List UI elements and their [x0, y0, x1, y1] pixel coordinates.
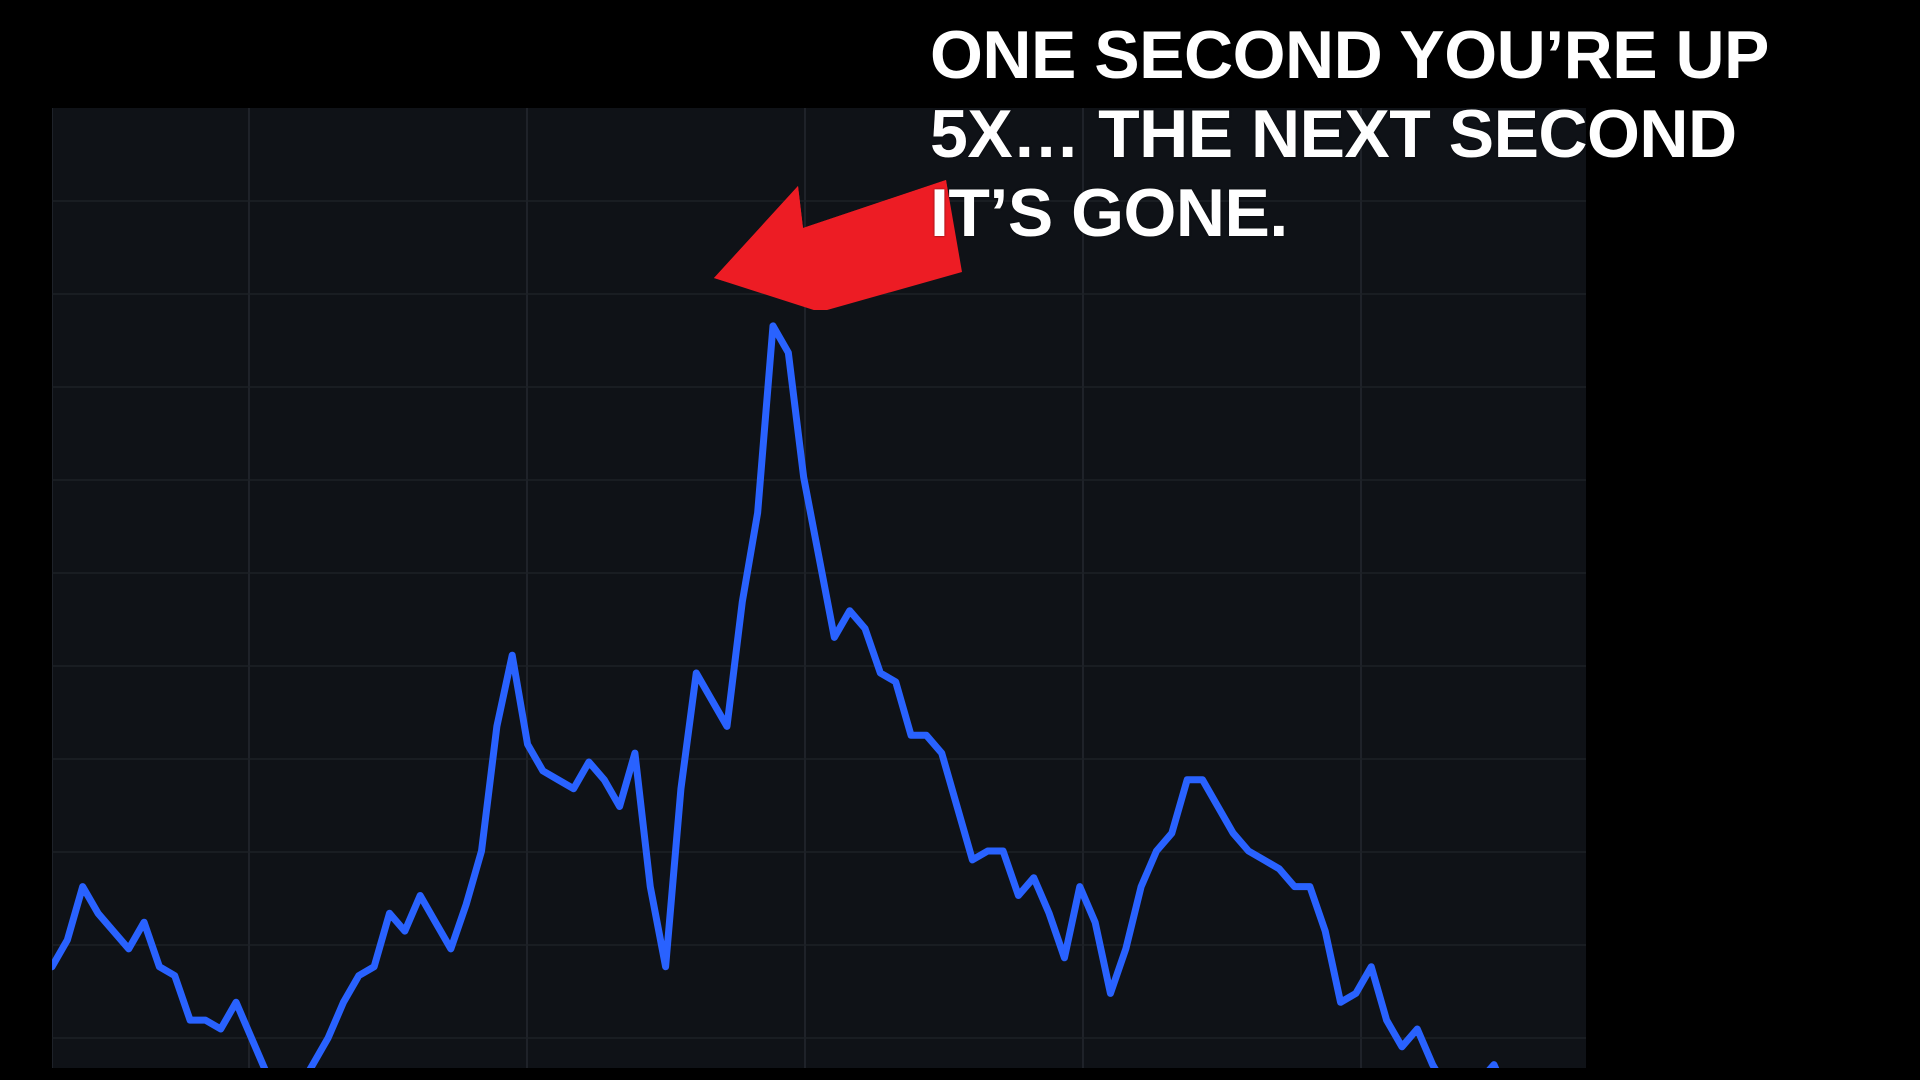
caption-line-2: 5X… THE NEXT SECOND	[930, 95, 1890, 174]
meme-canvas: ONE SECOND YOU’RE UP 5X… THE NEXT SECOND…	[0, 0, 1920, 1080]
caption-line-3: IT’S GONE.	[930, 174, 1890, 253]
caption-text-block: ONE SECOND YOU’RE UP 5X… THE NEXT SECOND…	[930, 16, 1890, 253]
caption-line-1: ONE SECOND YOU’RE UP	[930, 16, 1890, 95]
